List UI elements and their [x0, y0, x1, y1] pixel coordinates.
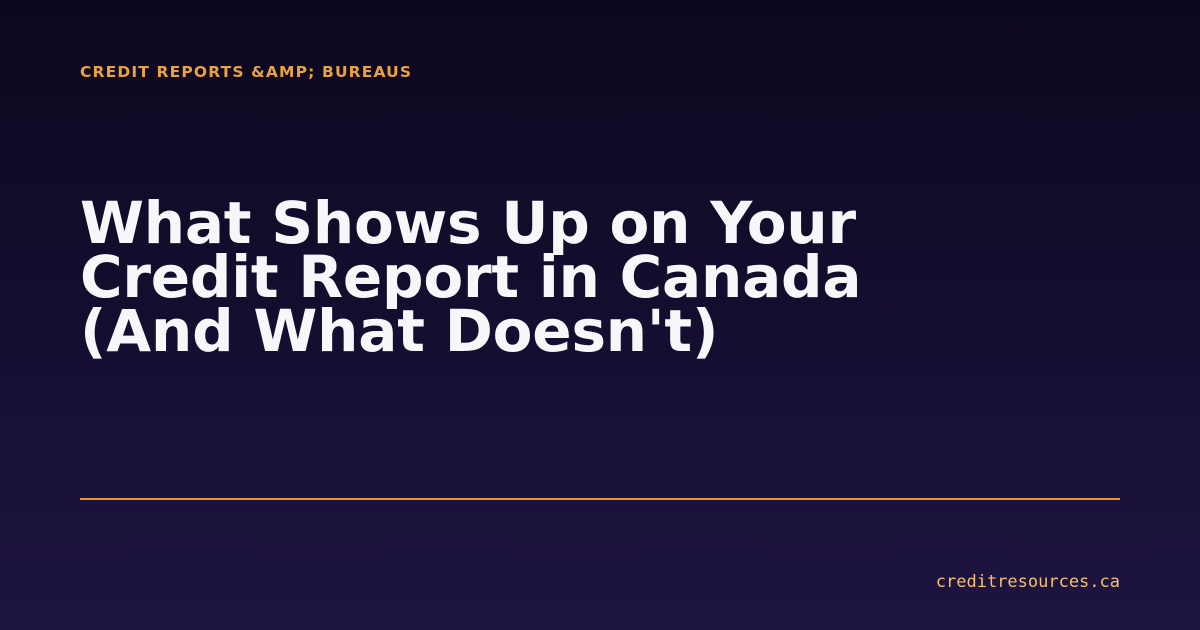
social-share-card: CREDIT REPORTS &AMP; BUREAUS What Shows … [0, 0, 1200, 630]
article-headline: What Shows Up on Your Credit Report in C… [80, 196, 980, 358]
category-eyebrow: CREDIT REPORTS &AMP; BUREAUS [80, 63, 412, 82]
divider-rule [80, 498, 1120, 500]
site-domain: creditresources.ca [936, 572, 1120, 592]
